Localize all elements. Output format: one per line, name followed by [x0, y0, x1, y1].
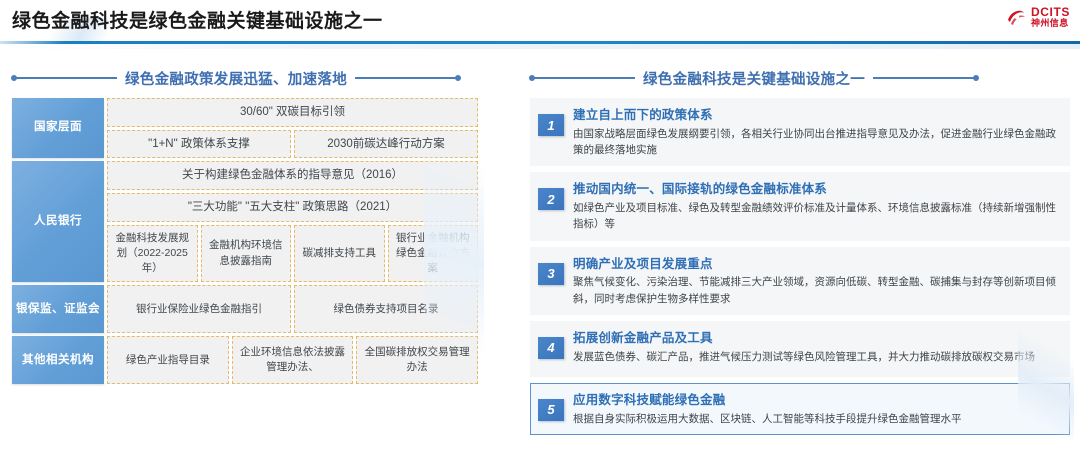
list-item[interactable]: 3明确产业及项目发展重点聚焦气候变化、污染治理、节能减排三大产业领域，资源向低碳… — [530, 247, 1070, 315]
logo-en-text: DCITS — [1031, 6, 1070, 18]
list-item[interactable]: 2推动国内统一、国际接轨的绿色金融标准体系如绿色产业及项目标准、绿色及转型金融绩… — [530, 172, 1070, 240]
matrix-cell-group: "1+N" 政策体系支撑2030前碳达峰行动方案 — [107, 130, 478, 159]
matrix-row-cells: 银行业保险业绿色金融指引绿色债券支持项目名录 — [107, 285, 478, 333]
matrix-row-label: 国家层面 — [12, 98, 104, 158]
brand-logo: DCITS 神州信息 — [1005, 6, 1070, 28]
heading-rule-left-icon — [12, 77, 117, 79]
policy-cell[interactable]: 银行业金融机构绿色金融评价方案 — [388, 225, 479, 283]
item-number-badge: 5 — [538, 399, 564, 421]
matrix-row-cells: 绿色产业指导目录企业环境信息依法披露管理办法、全国碳排放权交易管理办法 — [107, 336, 478, 384]
slide-body: 绿色金融政策发展迅猛、加速落地 国家层面30/60" 双碳目标引领"1+N" 政… — [0, 44, 1080, 454]
item-text-block: 应用数字科技赋能绿色金融根据自身实际积极运用大数据、区块链、人工智能等科技手段提… — [573, 390, 1060, 427]
item-title: 推动国内统一、国际接轨的绿色金融标准体系 — [573, 180, 1060, 199]
item-title: 明确产业及项目发展重点 — [573, 255, 1060, 274]
item-description: 聚焦气候变化、污染治理、节能减排三大产业领域，资源向低碳、转型金融、碳捕集与封存… — [573, 274, 1060, 307]
item-text-block: 建立自上而下的政策体系由国家战略层面绿色发展纲要引领，各相关行业协同出台推进指导… — [573, 105, 1060, 158]
matrix-row-label: 银保监、证监会 — [12, 285, 104, 333]
item-number-badge: 1 — [538, 114, 564, 136]
matrix-row-cells: 30/60" 双碳目标引领"1+N" 政策体系支撑2030前碳达峰行动方案 — [107, 98, 478, 158]
infrastructure-list: 1建立自上而下的政策体系由国家战略层面绿色发展纲要引领，各相关行业协同出台推进指… — [530, 98, 1070, 435]
matrix-cell-group: 绿色产业指导目录企业环境信息依法披露管理办法、全国碳排放权交易管理办法 — [107, 336, 478, 384]
policy-cell[interactable]: 全国碳排放权交易管理办法 — [356, 336, 478, 384]
item-description: 如绿色产业及项目标准、绿色及转型金融绩效评价标准及计量体系、环境信息披露标准（持… — [573, 200, 1060, 233]
matrix-row-cells: 关于构建绿色金融体系的指导意见（2016）"三大功能" "五大支柱" 政策思路（… — [107, 161, 478, 282]
policy-cell[interactable]: 金融机构环境信息披露指南 — [201, 225, 292, 283]
right-section-heading: 绿色金融科技是关键基础设施之一 — [530, 68, 1070, 88]
item-title: 建立自上而下的政策体系 — [573, 106, 1060, 125]
policy-cell[interactable]: 2030前碳达峰行动方案 — [294, 130, 478, 159]
slide-header: 绿色金融科技是绿色金融关键基础设施之一 DCITS 神州信息 — [0, 0, 1080, 44]
policy-cell[interactable]: "三大功能" "五大支柱" 政策思路（2021） — [107, 193, 478, 222]
left-section-title: 绿色金融政策发展迅猛、加速落地 — [125, 68, 347, 89]
item-number-badge: 4 — [538, 337, 564, 359]
matrix-cell-group: "三大功能" "五大支柱" 政策思路（2021） — [107, 193, 478, 222]
item-title: 拓展创新金融产品及工具 — [573, 329, 1060, 348]
dcits-logo-icon — [1005, 6, 1027, 28]
item-text-block: 推动国内统一、国际接轨的绿色金融标准体系如绿色产业及项目标准、绿色及转型金融绩效… — [573, 179, 1060, 232]
matrix-row-label: 人民银行 — [12, 161, 104, 282]
list-item[interactable]: 4拓展创新金融产品及工具发展蓝色债券、碳汇产品，推进气候压力测试等绿色风险管理工… — [530, 321, 1070, 377]
heading-rule-right-icon — [355, 77, 460, 79]
heading-rule-left-icon — [530, 77, 635, 79]
matrix-row-label: 其他相关机构 — [12, 336, 104, 384]
item-text-block: 明确产业及项目发展重点聚焦气候变化、污染治理、节能减排三大产业领域，资源向低碳、… — [573, 254, 1060, 307]
right-section-title: 绿色金融科技是关键基础设施之一 — [643, 68, 865, 89]
item-description: 发展蓝色债券、碳汇产品，推进气候压力测试等绿色风险管理工具，并大力推动碳排放碳权… — [573, 349, 1060, 365]
policy-matrix-table: 国家层面30/60" 双碳目标引领"1+N" 政策体系支撑2030前碳达峰行动方… — [12, 98, 478, 384]
policy-cell[interactable]: "1+N" 政策体系支撑 — [107, 130, 291, 159]
policy-cell[interactable]: 30/60" 双碳目标引领 — [107, 98, 478, 127]
policy-cell[interactable]: 企业环境信息依法披露管理办法、 — [232, 336, 354, 384]
policy-cell[interactable]: 绿色债券支持项目名录 — [294, 285, 478, 333]
list-item[interactable]: 1建立自上而下的政策体系由国家战略层面绿色发展纲要引领，各相关行业协同出台推进指… — [530, 98, 1070, 166]
logo-wordmark: DCITS 神州信息 — [1031, 6, 1070, 28]
left-section-heading: 绿色金融政策发展迅猛、加速落地 — [12, 68, 478, 88]
matrix-row: 银保监、证监会银行业保险业绿色金融指引绿色债券支持项目名录 — [12, 285, 478, 333]
page-title: 绿色金融科技是绿色金融关键基础设施之一 — [12, 6, 383, 33]
matrix-row: 其他相关机构绿色产业指导目录企业环境信息依法披露管理办法、全国碳排放权交易管理办… — [12, 336, 478, 384]
item-description: 由国家战略层面绿色发展纲要引领，各相关行业协同出台推进指导意见及办法，促进金融行… — [573, 126, 1060, 159]
item-number-badge: 3 — [538, 263, 564, 285]
policy-cell[interactable]: 银行业保险业绿色金融指引 — [107, 285, 291, 333]
matrix-row: 人民银行关于构建绿色金融体系的指导意见（2016）"三大功能" "五大支柱" 政… — [12, 161, 478, 282]
right-column: 绿色金融科技是关键基础设施之一 1建立自上而下的政策体系由国家战略层面绿色发展纲… — [530, 68, 1070, 435]
policy-cell[interactable]: 碳减排支持工具 — [294, 225, 385, 283]
matrix-cell-group: 关于构建绿色金融体系的指导意见（2016） — [107, 161, 478, 190]
list-item-highlighted[interactable]: 5应用数字科技赋能绿色金融根据自身实际积极运用大数据、区块链、人工智能等科技手段… — [530, 383, 1070, 435]
policy-cell[interactable]: 金融科技发展规划（2022-2025年） — [107, 225, 198, 283]
matrix-cell-group: 银行业保险业绿色金融指引绿色债券支持项目名录 — [107, 285, 478, 333]
item-text-block: 拓展创新金融产品及工具发展蓝色债券、碳汇产品，推进气候压力测试等绿色风险管理工具… — [573, 328, 1060, 365]
policy-cell[interactable]: 关于构建绿色金融体系的指导意见（2016） — [107, 161, 478, 190]
policy-cell[interactable]: 绿色产业指导目录 — [107, 336, 229, 384]
left-column: 绿色金融政策发展迅猛、加速落地 国家层面30/60" 双碳目标引领"1+N" 政… — [12, 68, 478, 387]
item-number-badge: 2 — [538, 188, 564, 210]
matrix-cell-group: 30/60" 双碳目标引领 — [107, 98, 478, 127]
logo-cn-text: 神州信息 — [1031, 19, 1070, 28]
item-description: 根据自身实际积极运用大数据、区块链、人工智能等科技手段提升绿色金融管理水平 — [573, 411, 1060, 427]
matrix-cell-group: 金融科技发展规划（2022-2025年）金融机构环境信息披露指南碳减排支持工具银… — [107, 225, 478, 283]
matrix-row: 国家层面30/60" 双碳目标引领"1+N" 政策体系支撑2030前碳达峰行动方… — [12, 98, 478, 158]
item-title: 应用数字科技赋能绿色金融 — [573, 391, 1060, 410]
heading-rule-right-icon — [873, 77, 978, 79]
